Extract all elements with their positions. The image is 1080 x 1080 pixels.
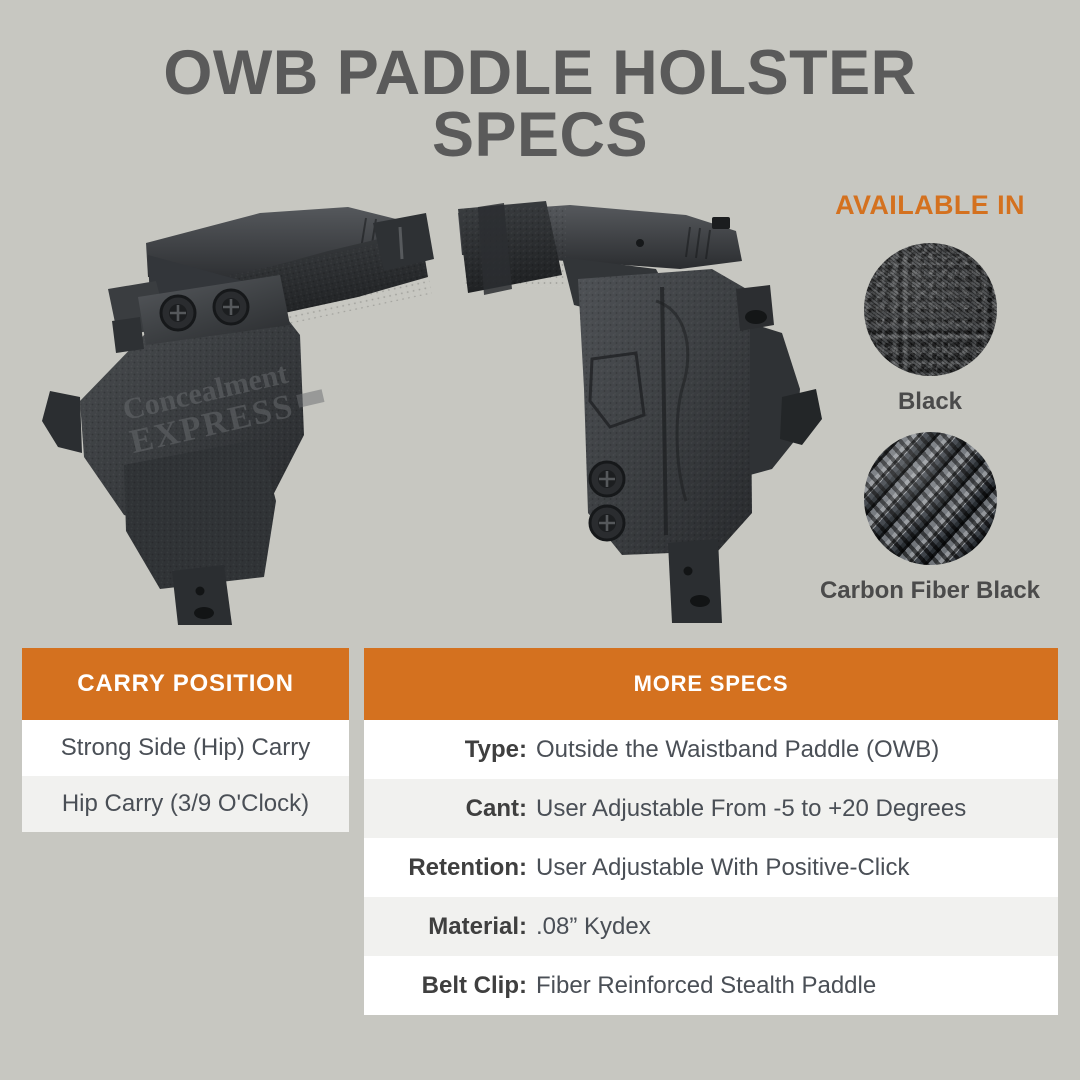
tongue-slot xyxy=(690,595,710,607)
clip-slot xyxy=(745,310,767,324)
spec-label: Belt Clip: xyxy=(364,972,536,1000)
table-row: Strong Side (Hip) Carry xyxy=(22,720,349,776)
paddle-tongue xyxy=(668,539,722,623)
table-row: Cant: User Adjustable From -5 to +20 Deg… xyxy=(364,779,1058,838)
table-row: Hip Carry (3/9 O'Clock) xyxy=(22,776,349,832)
spec-value: Fiber Reinforced Stealth Paddle xyxy=(536,972,876,1000)
more-specs-header: MORE SPECS xyxy=(364,648,1058,720)
spec-value: User Adjustable With Positive-Click xyxy=(536,854,909,882)
spec-label: Retention: xyxy=(364,854,536,882)
carry-position-value: Strong Side (Hip) Carry xyxy=(61,734,310,762)
takedown-pin xyxy=(636,239,644,247)
tongue-hole-1 xyxy=(196,587,205,596)
colorway-carbon-fiber-black[interactable]: Carbon Fiber Black xyxy=(800,432,1060,605)
paddle-hook xyxy=(42,391,82,453)
side-clip xyxy=(112,317,144,353)
spec-label: Cant: xyxy=(364,795,536,823)
table-row: Belt Clip: Fiber Reinforced Stealth Padd… xyxy=(364,956,1058,1015)
colorway-black-label: Black xyxy=(800,388,1060,416)
carry-position-value: Hip Carry (3/9 O'Clock) xyxy=(62,790,309,818)
carbon-fiber-swatch-icon[interactable] xyxy=(864,432,997,565)
holster-front-view-svg: Concealment EXPRESS xyxy=(28,185,438,625)
page-title-line-1: OWB PADDLE HOLSTER xyxy=(163,38,916,108)
available-in-heading: AVAILABLE IN xyxy=(800,190,1060,221)
spec-label: Type: xyxy=(364,736,536,764)
page-title-line-2: SPECS xyxy=(0,104,1080,166)
colorway-black[interactable]: Black xyxy=(800,243,1060,416)
belt-clip-tab xyxy=(736,285,774,331)
table-row: Material: .08” Kydex xyxy=(364,897,1058,956)
table-row: Retention: User Adjustable With Positive… xyxy=(364,838,1058,897)
grip-texture xyxy=(462,207,566,287)
holster-rear-view-image xyxy=(450,183,830,623)
tongue-hole-1 xyxy=(684,567,693,576)
colorway-carbon-fiber-label: Carbon Fiber Black xyxy=(800,577,1060,605)
table-row: Type: Outside the Waistband Paddle (OWB) xyxy=(364,720,1058,779)
spec-label: Material: xyxy=(364,913,536,941)
spec-value: Outside the Waistband Paddle (OWB) xyxy=(536,736,939,764)
spec-value: .08” Kydex xyxy=(536,913,651,941)
spec-value: User Adjustable From -5 to +20 Degrees xyxy=(536,795,966,823)
holster-shell-texture xyxy=(124,439,276,589)
holster-front-view-image: Concealment EXPRESS xyxy=(28,185,438,625)
available-colorways-panel: AVAILABLE IN Black Carbon Fiber Black xyxy=(800,190,1060,605)
holster-rear-view-svg xyxy=(450,183,830,623)
carry-position-header: CARRY POSITION xyxy=(22,648,349,720)
more-specs-table: MORE SPECS Type: Outside the Waistband P… xyxy=(364,648,1058,1015)
page-title: OWB PADDLE HOLSTER SPECS xyxy=(0,42,1080,166)
carry-position-table: CARRY POSITION Strong Side (Hip) Carry H… xyxy=(22,648,349,832)
baseplate-groove xyxy=(400,227,402,259)
black-kydex-swatch-icon[interactable] xyxy=(864,243,997,376)
tongue-slot xyxy=(194,607,214,619)
rear-sight xyxy=(712,217,730,229)
